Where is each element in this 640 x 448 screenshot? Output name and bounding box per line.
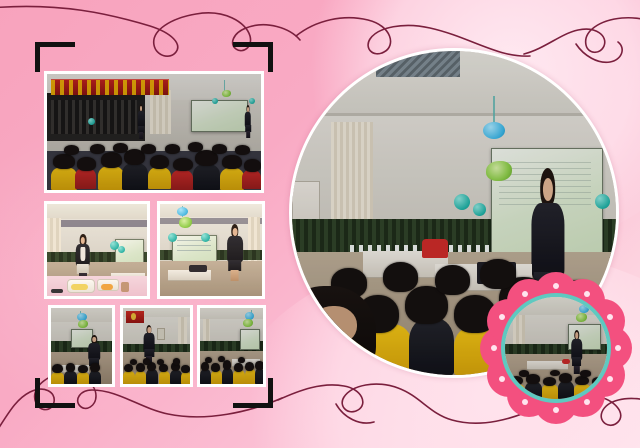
photo-tint xyxy=(47,74,261,190)
flower-inner-ring xyxy=(501,293,611,403)
photo-content xyxy=(505,297,607,399)
polka-dot xyxy=(607,314,613,320)
bracket-arm-horizontal xyxy=(35,403,75,408)
polka-dot xyxy=(491,345,497,351)
photo-content xyxy=(47,74,261,190)
bracket-arm-vertical xyxy=(268,378,273,408)
bracket-arm-vertical xyxy=(35,42,40,72)
photo-flower-inset[interactable] xyxy=(480,272,632,424)
corner-bracket-top-left xyxy=(35,42,75,72)
polka-dot xyxy=(553,283,559,289)
photo-tint xyxy=(505,297,607,399)
bracket-arm-horizontal xyxy=(233,403,273,408)
photo-class-right[interactable] xyxy=(197,305,266,387)
photo-content xyxy=(200,308,263,384)
polka-dot xyxy=(584,399,590,405)
photo-tint xyxy=(51,308,112,384)
photo-content xyxy=(123,308,190,384)
photo-tint xyxy=(123,308,190,384)
bracket-arm-vertical xyxy=(35,378,40,408)
photo-seminar-hall-wide[interactable] xyxy=(44,71,264,193)
photo-tint xyxy=(200,308,263,384)
photo-content xyxy=(51,308,112,384)
photo-speaker-right[interactable] xyxy=(157,201,265,299)
polka-dot xyxy=(615,345,621,351)
polka-dot xyxy=(553,407,559,413)
photo-content xyxy=(47,204,147,296)
photo-collage-canvas xyxy=(0,0,640,448)
photo-class-middle[interactable] xyxy=(120,305,193,387)
polka-dot xyxy=(607,376,613,382)
bracket-arm-vertical xyxy=(268,42,273,72)
corner-bracket-top-right xyxy=(233,42,273,72)
polka-dot xyxy=(522,399,528,405)
bracket-arm-horizontal xyxy=(35,42,75,47)
bracket-arm-horizontal xyxy=(233,42,273,47)
photo-content xyxy=(160,204,262,296)
photo-speaker-left[interactable] xyxy=(44,201,150,299)
photo-tint xyxy=(47,204,147,296)
photo-tint xyxy=(160,204,262,296)
photo-class-left[interactable] xyxy=(48,305,115,387)
